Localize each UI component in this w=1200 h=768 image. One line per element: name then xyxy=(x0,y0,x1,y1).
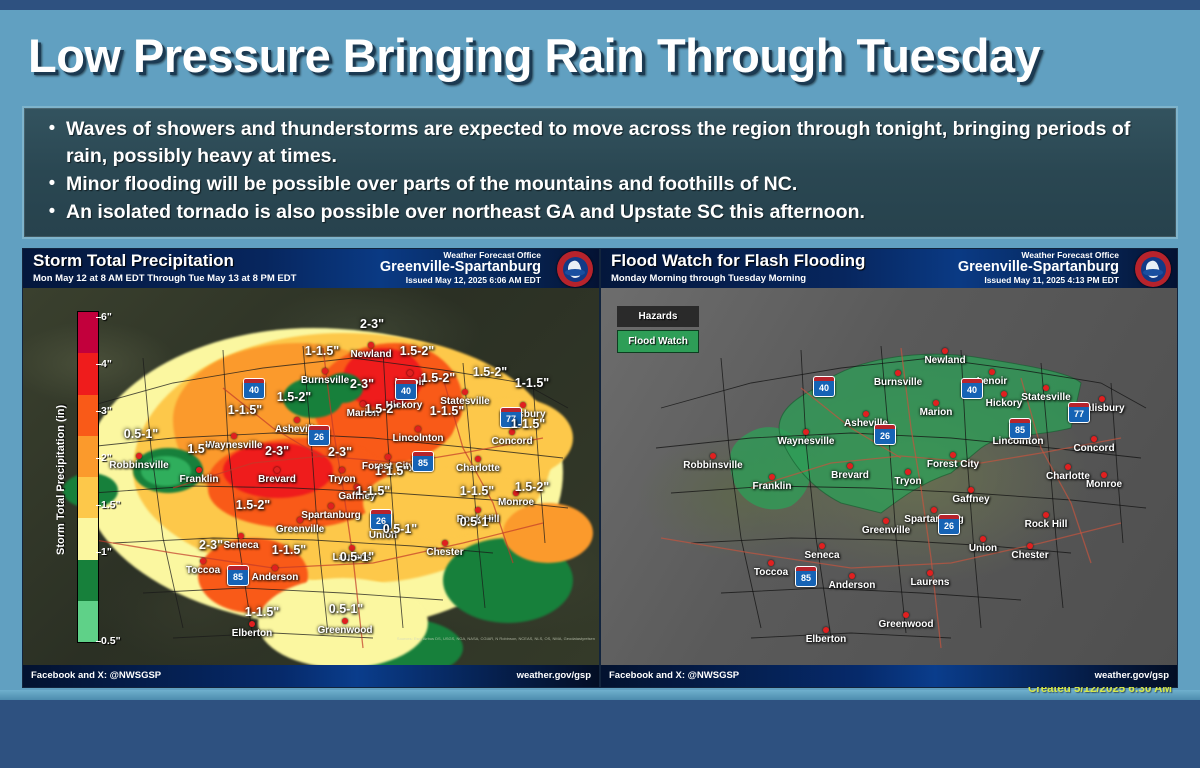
city-label: Burnsville xyxy=(874,377,922,388)
city-marker xyxy=(989,369,995,375)
precip-amount-label: 0.5-1" xyxy=(460,515,494,529)
interstate-shield-40: 40 xyxy=(961,381,983,399)
precip-amount-label: 1-1.5" xyxy=(245,605,279,619)
city-label: Hickory xyxy=(986,398,1023,409)
precip-amount-label: 1.5-2" xyxy=(365,402,399,416)
city-marker xyxy=(294,417,300,423)
interstate-shield-26: 26 xyxy=(874,427,896,445)
nws-logo-icon xyxy=(557,251,593,287)
right-social-handle: Facebook and X: @NWSGSP xyxy=(609,670,739,681)
hazards-legend: Hazards Flood Watch xyxy=(617,306,699,353)
interstate-shield-40: 40 xyxy=(813,379,835,397)
right-issued-time: Issued May 11, 2025 4:13 PM EDT xyxy=(984,275,1119,285)
city-marker xyxy=(1091,436,1097,442)
precip-amount-label: 1-1.5" xyxy=(515,376,549,390)
nws-logo-icon xyxy=(1135,251,1171,287)
bullet-marker-icon: • xyxy=(38,171,66,196)
storm-total-precipitation-panel: Storm Total Precipitation Mon May 12 at … xyxy=(22,248,600,688)
city-label: Robbinsville xyxy=(683,460,742,471)
precip-amount-label: 1-1.5" xyxy=(228,403,262,417)
map-attribution: Sources: Esri, Airbus DS, USGS, NGA, NAS… xyxy=(397,636,595,641)
left-social-handle: Facebook and X: @NWSGSP xyxy=(31,670,161,681)
city-label: Newland xyxy=(924,355,965,366)
city-marker xyxy=(895,370,901,376)
interstate-shield-85: 85 xyxy=(412,454,434,472)
city-marker xyxy=(803,429,809,435)
precip-amount-label: 1-1.5" xyxy=(511,417,545,431)
city-marker xyxy=(475,507,481,513)
city-label: Tryon xyxy=(328,474,355,485)
city-marker xyxy=(342,618,348,624)
right-office-name: Greenville-Spartanburg xyxy=(958,259,1119,275)
precip-amount-label: 0.5-1" xyxy=(383,522,417,536)
precipitation-legend: Storm Total Precipitation (in) 6"4"3"2"1… xyxy=(55,305,121,655)
precip-amount-label: 2-3" xyxy=(360,317,384,331)
legend-tick: 3" xyxy=(101,405,112,417)
city-marker xyxy=(769,474,775,480)
city-marker xyxy=(231,433,237,439)
city-label: Marion xyxy=(920,407,953,418)
city-marker xyxy=(819,543,825,549)
precip-amount-label: 2-3" xyxy=(328,445,352,459)
left-issued-time: Issued May 12, 2025 6:06 AM EDT xyxy=(406,275,541,285)
left-panel-subtitle: Mon May 12 at 8 AM EDT Through Tue May 1… xyxy=(33,273,296,284)
legend-swatch xyxy=(78,560,98,601)
legend-swatch xyxy=(78,518,98,559)
city-marker xyxy=(297,517,303,523)
city-label: Franklin xyxy=(180,474,219,485)
city-label: Concord xyxy=(1073,443,1114,454)
precip-amount-label: 1.5" xyxy=(187,442,210,456)
city-label: Burnsville xyxy=(301,375,349,386)
city-label: Charlotte xyxy=(456,463,500,474)
precip-amount-label: 1.5-2" xyxy=(515,480,549,494)
city-marker xyxy=(942,348,948,354)
legend-colorbar xyxy=(77,311,99,643)
precip-amount-label: 2-3" xyxy=(265,444,289,458)
left-panel-footer: Facebook and X: @NWSGSP weather.gov/gsp xyxy=(23,665,599,687)
city-marker xyxy=(274,467,280,473)
city-label: Toccoa xyxy=(186,565,220,576)
precip-amount-label: 0.5-1" xyxy=(124,427,158,441)
legend-swatch xyxy=(78,477,98,518)
city-label: Brevard xyxy=(258,474,296,485)
city-marker xyxy=(903,612,909,618)
interstate-shield-85: 85 xyxy=(1009,421,1031,439)
page-title: Low Pressure Bringing Rain Through Tuesd… xyxy=(28,28,1178,90)
city-marker xyxy=(415,426,421,432)
city-label: Charlotte xyxy=(1046,471,1090,482)
precip-amount-label: 1-1.5" xyxy=(375,464,409,478)
bullet-text: An isolated tornado is also possible ove… xyxy=(66,199,865,226)
hazards-legend-title: Hazards xyxy=(617,306,699,327)
city-marker xyxy=(1001,391,1007,397)
city-marker xyxy=(968,487,974,493)
city-marker xyxy=(462,389,468,395)
precip-amount-label: 1.5-2" xyxy=(236,498,270,512)
city-marker xyxy=(200,558,206,564)
bullet-item: • Waves of showers and thunderstorms are… xyxy=(38,116,1162,170)
city-marker xyxy=(823,627,829,633)
interstate-shield-77: 77 xyxy=(1068,405,1090,423)
city-marker xyxy=(1099,396,1105,402)
left-panel-header: Storm Total Precipitation Mon May 12 at … xyxy=(23,249,599,288)
city-marker xyxy=(1043,385,1049,391)
bottom-accent-line xyxy=(0,690,1200,700)
city-marker xyxy=(385,454,391,460)
right-website-url[interactable]: weather.gov/gsp xyxy=(1095,670,1169,681)
right-panel-subtitle: Monday Morning through Tuesday Morning xyxy=(611,273,806,284)
city-marker xyxy=(407,370,413,376)
legend-swatch xyxy=(78,601,98,642)
city-label: Rock Hill xyxy=(1025,519,1068,530)
city-label: Monroe xyxy=(498,497,534,508)
city-label: Concord xyxy=(491,436,532,447)
flood-watch-map[interactable]: NewlandBurnsvilleLenoirStatesvilleSalisb… xyxy=(601,288,1177,665)
legend-swatch xyxy=(78,395,98,436)
legend-axis-title: Storm Total Precipitation (in) xyxy=(55,365,73,595)
city-label: Chester xyxy=(1011,550,1048,561)
interstate-shield-26: 26 xyxy=(938,517,960,535)
precip-amount-label: 2-3" xyxy=(199,538,223,552)
city-marker xyxy=(442,540,448,546)
precip-amount-label: 1-1.5" xyxy=(305,344,339,358)
right-panel-footer: Facebook and X: @NWSGSP weather.gov/gsp xyxy=(601,665,1177,687)
precip-amount-label: 1.5-2" xyxy=(421,371,455,385)
city-label: Franklin xyxy=(753,481,792,492)
hazard-flood-watch[interactable]: Flood Watch xyxy=(617,330,699,353)
precip-amount-label: 1.5-2" xyxy=(473,365,507,379)
bullet-marker-icon: • xyxy=(38,199,66,224)
interstate-shield-26: 26 xyxy=(308,428,330,446)
city-marker xyxy=(927,570,933,576)
city-label: Tryon xyxy=(894,476,921,487)
legend-swatch xyxy=(78,353,98,394)
city-label: Waynesville xyxy=(206,440,263,451)
key-messages-box: • Waves of showers and thunderstorms are… xyxy=(22,106,1178,239)
city-marker xyxy=(710,453,716,459)
city-label: Monroe xyxy=(1086,479,1122,490)
precip-amount-label: 1-1.5" xyxy=(272,543,306,557)
bullet-item: • Minor flooding will be possible over p… xyxy=(38,171,1162,198)
city-marker xyxy=(950,452,956,458)
city-marker xyxy=(849,573,855,579)
flood-watch-panel: Flood Watch for Flash Flooding Monday Mo… xyxy=(600,248,1178,688)
legend-tick: 1.5" xyxy=(101,499,121,511)
city-marker xyxy=(768,560,774,566)
bullet-text: Waves of showers and thunderstorms are e… xyxy=(66,116,1162,170)
city-label: Anderson xyxy=(252,572,299,583)
city-label: Laurens xyxy=(911,577,950,588)
left-office-name: Greenville-Spartanburg xyxy=(380,259,541,275)
bullet-marker-icon: • xyxy=(38,116,66,141)
city-marker xyxy=(238,533,244,539)
legend-tick: 0.5" xyxy=(101,635,121,647)
city-marker xyxy=(249,621,255,627)
interstate-shield-85: 85 xyxy=(227,568,249,586)
bullet-text: Minor flooding will be possible over par… xyxy=(66,171,797,198)
bullet-item: • An isolated tornado is also possible o… xyxy=(38,199,1162,226)
city-label: Greenwood xyxy=(317,625,372,636)
precip-amount-label: 0.5-1" xyxy=(329,602,363,616)
city-label: Anderson xyxy=(829,580,876,591)
precipitation-map[interactable]: NewlandBurnsvilleMarionAshevilleWaynesvi… xyxy=(23,288,599,665)
city-label: Chester xyxy=(426,547,463,558)
city-label: Elberton xyxy=(806,634,847,645)
left-website-url[interactable]: weather.gov/gsp xyxy=(517,670,591,681)
city-marker xyxy=(339,467,345,473)
precip-amount-label: 1.5-2" xyxy=(277,390,311,404)
precip-amount-label: 2-3" xyxy=(350,377,374,391)
city-marker xyxy=(272,565,278,571)
city-marker xyxy=(863,411,869,417)
legend-tick: 2" xyxy=(101,452,112,464)
precip-amount-label: 1.5-2" xyxy=(400,344,434,358)
legend-tick: 1" xyxy=(101,546,112,558)
interstate-shield-40: 40 xyxy=(395,382,417,400)
city-label: Greenwood xyxy=(878,619,933,630)
bottom-border-area xyxy=(0,700,1200,768)
city-marker xyxy=(322,368,328,374)
city-label: Seneca xyxy=(804,550,839,561)
city-marker xyxy=(1043,512,1049,518)
city-marker xyxy=(1101,472,1107,478)
city-label: Waynesville xyxy=(778,436,835,447)
city-label: Brevard xyxy=(831,470,869,481)
right-panel-header: Flood Watch for Flash Flooding Monday Mo… xyxy=(601,249,1177,288)
precip-amount-label: 0.5-1" xyxy=(340,550,374,564)
interstate-shield-85: 85 xyxy=(795,569,817,587)
city-marker xyxy=(136,453,142,459)
city-label: Newland xyxy=(350,349,391,360)
city-marker xyxy=(980,536,986,542)
city-marker xyxy=(328,503,334,509)
city-label: Seneca xyxy=(223,540,258,551)
maps-container: Storm Total Precipitation Mon May 12 at … xyxy=(22,248,1178,688)
city-label: Spartanburg xyxy=(301,510,360,521)
city-label: Union xyxy=(969,543,997,554)
city-marker xyxy=(475,456,481,462)
right-panel-title: Flood Watch for Flash Flooding xyxy=(611,251,865,271)
precip-amount-label: 1-1.5" xyxy=(430,404,464,418)
legend-tick: 6" xyxy=(101,311,112,323)
precip-amount-label: 1-1.5" xyxy=(460,484,494,498)
city-marker xyxy=(1065,464,1071,470)
city-label: Gaffney xyxy=(952,494,989,505)
legend-swatch xyxy=(78,312,98,353)
precip-amount-label: 1-1.5" xyxy=(356,484,390,498)
city-marker xyxy=(1027,543,1033,549)
city-marker xyxy=(847,463,853,469)
city-marker xyxy=(931,507,937,513)
legend-tick: 4" xyxy=(101,358,112,370)
top-border-strip xyxy=(0,0,1200,10)
city-marker xyxy=(196,467,202,473)
city-label: Forest City xyxy=(927,459,979,470)
city-marker xyxy=(368,342,374,348)
city-label: Statesville xyxy=(1021,392,1070,403)
left-panel-title: Storm Total Precipitation xyxy=(33,251,234,271)
interstate-shield-40: 40 xyxy=(243,381,265,399)
city-label: Toccoa xyxy=(754,567,788,578)
city-marker xyxy=(883,518,889,524)
weather-graphic: Low Pressure Bringing Rain Through Tuesd… xyxy=(0,0,1200,768)
city-marker xyxy=(933,400,939,406)
city-label: Greenville xyxy=(276,524,324,535)
city-label: Greenville xyxy=(862,525,910,536)
legend-swatch xyxy=(78,436,98,477)
city-label: Elberton xyxy=(232,628,273,639)
city-marker xyxy=(905,469,911,475)
city-label: Lincolnton xyxy=(392,433,443,444)
